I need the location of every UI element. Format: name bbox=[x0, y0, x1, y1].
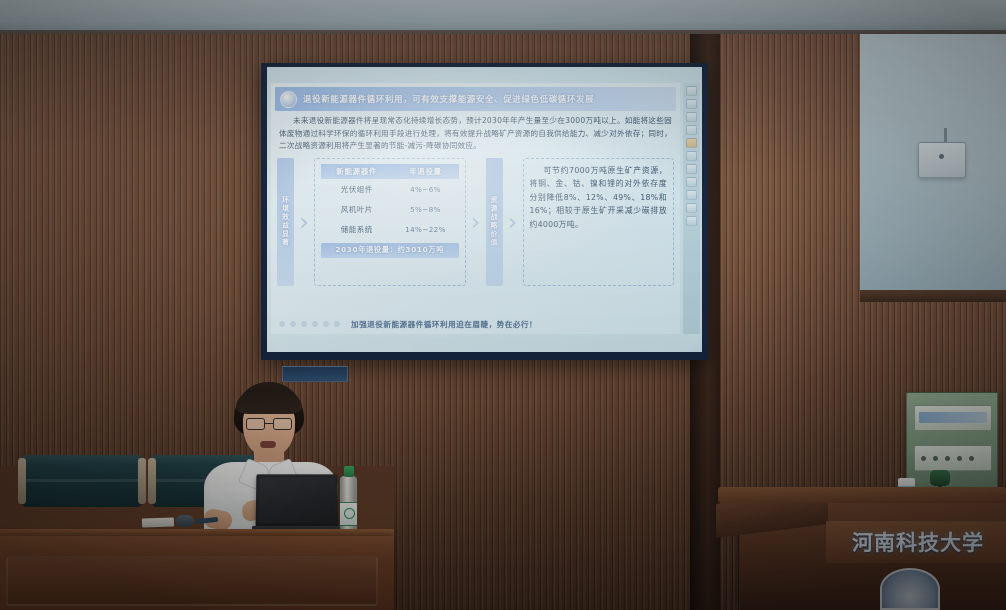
chevron-right-icon-3: › bbox=[507, 158, 519, 286]
table-header-rate: 年退役量 bbox=[393, 164, 459, 179]
media-icon[interactable] bbox=[686, 164, 697, 174]
shapes-icon[interactable] bbox=[686, 112, 697, 122]
laptop-screen bbox=[259, 477, 336, 523]
table-row: 光伏组件 4%~6% bbox=[321, 179, 459, 199]
lecture-hall-scene: 退役新能源器件循环利用，可有效支撑能源安全、促进绿色低碳循环发展 未来退役新能源… bbox=[0, 0, 1006, 610]
chair-left bbox=[22, 455, 142, 507]
table-panel: 新能源器件 年退役量 光伏组件 4%~6% 风机叶片 bbox=[314, 158, 466, 286]
laptop bbox=[256, 474, 339, 528]
wall-picture bbox=[282, 366, 348, 382]
circle-icon bbox=[279, 321, 285, 327]
knob-icon[interactable] bbox=[957, 456, 962, 461]
desk-front-panel bbox=[6, 556, 378, 606]
hair-fringe bbox=[236, 388, 302, 414]
left-vertical-label: 环境效益显著 bbox=[277, 158, 294, 286]
table-header-component: 新能源器件 bbox=[321, 164, 393, 179]
bottle-label bbox=[340, 502, 357, 526]
layers-icon[interactable] bbox=[686, 99, 697, 109]
knob-icon[interactable] bbox=[969, 456, 974, 461]
glasses-bridge bbox=[265, 423, 273, 424]
university-seal-icon bbox=[880, 568, 940, 610]
microphone-icon bbox=[930, 470, 950, 486]
chair-armrest bbox=[18, 458, 26, 504]
retirement-table: 新能源器件 年退役量 光伏组件 4%~6% 风机叶片 bbox=[321, 164, 459, 239]
rack-unit-bottom bbox=[914, 445, 992, 471]
cell-component: 储能系统 bbox=[321, 219, 393, 239]
table-icon[interactable] bbox=[686, 177, 697, 187]
benefit-text: 可节约7000万吨原生矿产资源，将铜、金、钴、镍和锂的对外依存度分别降低8%、1… bbox=[530, 164, 668, 232]
table-row: 储能系统 14%~22% bbox=[321, 219, 459, 239]
middle-vertical-label-text: 资源战略价值 bbox=[489, 196, 499, 247]
presentation-slide: 退役新能源器件循环利用，可有效支撑能源安全、促进绿色低碳循环发展 未来退役新能源… bbox=[271, 83, 680, 334]
highlight-icon[interactable] bbox=[686, 138, 697, 148]
lectern-top bbox=[718, 487, 1006, 503]
cloud-icon[interactable] bbox=[686, 203, 697, 213]
cell-component: 光伏组件 bbox=[321, 179, 393, 199]
more-icon[interactable] bbox=[686, 216, 697, 226]
glasses-icon bbox=[246, 418, 292, 430]
wall-trim bbox=[860, 290, 1006, 302]
gear-icon bbox=[290, 321, 296, 327]
dot-icon bbox=[334, 321, 340, 327]
mouse-device bbox=[176, 515, 194, 527]
knob-icon[interactable] bbox=[945, 456, 950, 461]
left-vertical-label-text: 环境效益显著 bbox=[281, 196, 291, 247]
panel-icon[interactable] bbox=[686, 86, 697, 96]
venue-name-text: 河南科技大学 bbox=[832, 524, 1004, 560]
cell-rate: 14%~22% bbox=[393, 219, 459, 239]
lens-left bbox=[246, 418, 265, 430]
presentation-app-toolbar[interactable] bbox=[683, 83, 700, 334]
pen-icon bbox=[301, 321, 307, 327]
wall-mounted-speaker-icon bbox=[918, 142, 966, 178]
chevron-right-icon: › bbox=[298, 158, 310, 286]
rack-unit-top bbox=[914, 405, 992, 431]
bottle-cap bbox=[344, 466, 354, 477]
projection-screen: 退役新能源器件循环利用，可有效支撑能源安全、促进绿色低碳循环发展 未来退役新能源… bbox=[261, 63, 708, 360]
slide-content-row: 环境效益显著 › 新能源器件 年退役量 bbox=[277, 158, 674, 286]
lens-right bbox=[273, 418, 292, 430]
rack-knob-group[interactable] bbox=[921, 456, 974, 461]
knob-icon[interactable] bbox=[921, 456, 926, 461]
slide-footer: 加强退役新能源器件循环利用迫在眉睫，势在必行！ bbox=[271, 316, 680, 332]
star-icon bbox=[312, 321, 318, 327]
slide-title-bar: 退役新能源器件循环利用，可有效支撑能源安全、促进绿色低碳循环发展 bbox=[275, 87, 676, 111]
projected-image: 退役新能源器件循环利用，可有效支撑能源安全、促进绿色低碳循环发展 未来退役新能源… bbox=[267, 67, 702, 352]
seal-icon bbox=[280, 91, 297, 108]
comment-icon[interactable] bbox=[686, 190, 697, 200]
slide-body-paragraph: 未来退役新能源器件将呈现常态化持续增长态势，预计2030年年产生量至少在3000… bbox=[279, 115, 672, 153]
grid-icon bbox=[323, 321, 329, 327]
middle-vertical-label: 资源战略价值 bbox=[486, 158, 503, 286]
slide-footer-text: 加强退役新能源器件循环利用迫在眉睫，势在必行！ bbox=[351, 319, 537, 330]
benefit-panel: 可节约7000万吨原生矿产资源，将铜、金、钴、镍和锂的对外依存度分别降低8%、1… bbox=[523, 158, 675, 286]
slide-title-text: 退役新能源器件循环利用，可有效支撑能源安全、促进绿色低碳循环发展 bbox=[303, 93, 594, 105]
water-bottle bbox=[340, 466, 357, 534]
chair-seam bbox=[26, 479, 138, 482]
papers bbox=[142, 517, 174, 527]
rack-display bbox=[919, 412, 987, 423]
table-row: 风机叶片 5%~8% bbox=[321, 199, 459, 219]
knob-icon[interactable] bbox=[933, 456, 938, 461]
text-icon[interactable] bbox=[686, 125, 697, 135]
chart-icon[interactable] bbox=[686, 151, 697, 161]
cell-rate: 4%~6% bbox=[393, 179, 459, 199]
chair-armrest bbox=[138, 458, 146, 504]
table-summary-bar: 2030年退役量：约3010万吨 bbox=[321, 243, 459, 258]
cell-rate: 5%~8% bbox=[393, 199, 459, 219]
cell-component: 风机叶片 bbox=[321, 199, 393, 219]
chair-armrest bbox=[148, 458, 156, 504]
table-header-row: 新能源器件 年退役量 bbox=[321, 164, 459, 179]
av-control-rack bbox=[906, 392, 998, 500]
mouth bbox=[260, 441, 276, 448]
chevron-right-icon-2: › bbox=[470, 158, 482, 286]
